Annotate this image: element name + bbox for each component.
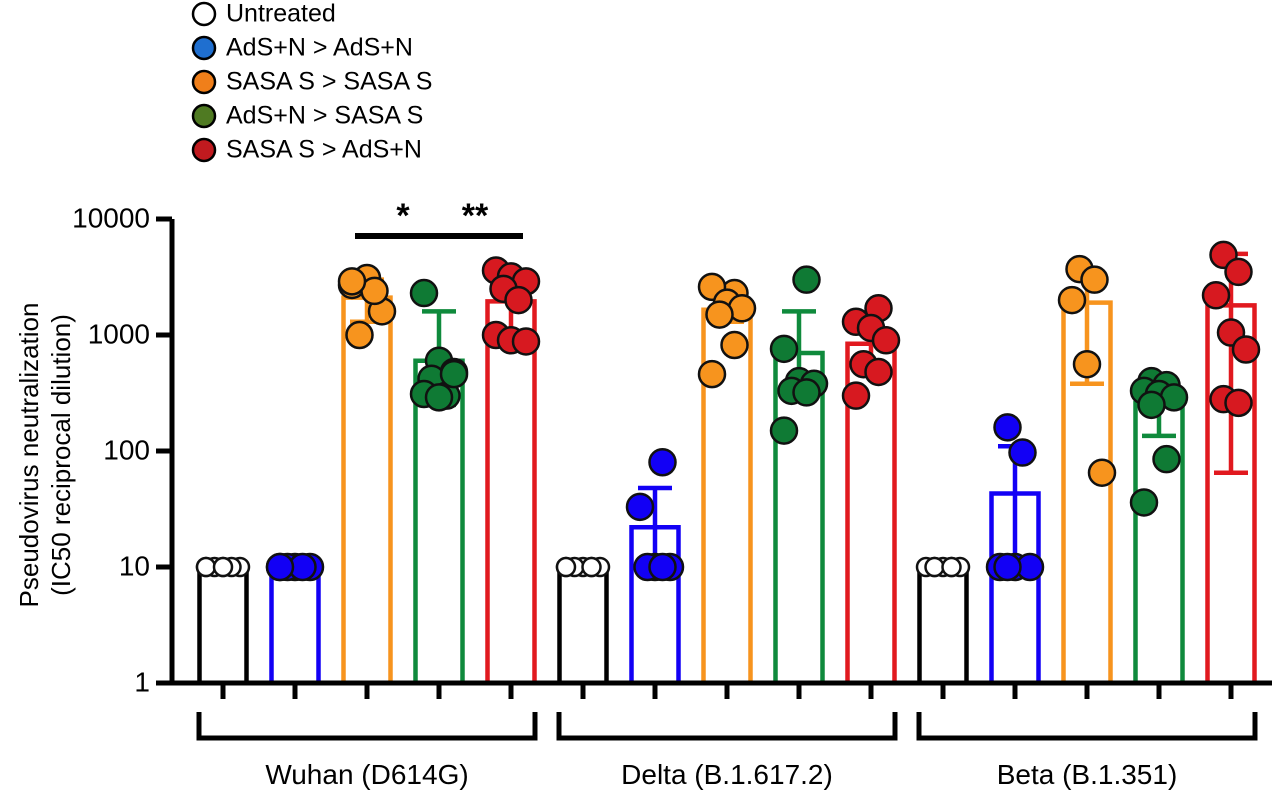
legend: UntreatedAdS+N > AdS+NSASA S > SASA SAdS…	[193, 0, 432, 164]
data-points-layer	[197, 242, 1259, 580]
y-tick-label-10000: 10000	[72, 202, 150, 233]
y-tick-label-10: 10	[119, 550, 150, 581]
y-axis-title-line-1: Pseudovirus neutralization	[14, 303, 44, 608]
data-point	[650, 554, 676, 580]
data-point	[771, 418, 797, 444]
group-label-1: Delta (B.1.617.2)	[621, 759, 833, 790]
data-point	[1226, 259, 1252, 285]
data-point	[873, 327, 899, 353]
data-point	[1010, 440, 1036, 466]
data-point	[1089, 460, 1115, 486]
significance-annotations: ***	[355, 197, 523, 236]
x-axis-group-labels: Wuhan (D614G)Delta (B.1.617.2)Beta (B.1.…	[199, 712, 1255, 790]
bar-outline	[488, 301, 535, 683]
y-tick-label-1: 1	[134, 666, 150, 697]
data-point	[995, 414, 1021, 440]
legend-swatch-4	[193, 139, 215, 161]
data-point	[1154, 446, 1180, 472]
significance-label-0: *	[396, 197, 410, 235]
bar-outline	[272, 567, 319, 683]
y-tick-label-1000: 1000	[88, 318, 150, 349]
legend-label-0: Untreated	[226, 0, 336, 28]
data-point	[1233, 336, 1259, 362]
legend-label-2: SASA S > SASA S	[226, 68, 432, 96]
legend-swatch-2	[193, 71, 215, 93]
data-point	[943, 558, 961, 576]
data-point	[794, 267, 820, 293]
legend-item-3: AdS+N > SASA S	[193, 102, 423, 130]
bar-1-0	[560, 567, 607, 683]
group-label-0: Wuhan (D614G)	[265, 759, 468, 790]
plot-area	[197, 242, 1259, 683]
y-axis-title: Pseudovirus neutralization(IC50 reciproc…	[14, 303, 76, 608]
bar-0-2	[344, 298, 391, 683]
bar-outline	[200, 567, 247, 683]
data-point	[197, 558, 215, 576]
data-point	[339, 268, 365, 294]
data-point	[1059, 287, 1085, 313]
bar-0-0	[200, 567, 247, 683]
data-point	[1226, 390, 1252, 416]
data-point	[1139, 392, 1165, 418]
data-point	[267, 554, 293, 580]
legend-swatch-3	[193, 105, 215, 127]
group-bracket-1	[559, 712, 895, 738]
legend-swatch-0	[193, 3, 215, 25]
data-point	[722, 332, 748, 358]
data-point	[794, 379, 820, 405]
legend-label-3: AdS+N > SASA S	[226, 102, 423, 130]
data-point	[866, 359, 892, 385]
group-bracket-0	[199, 712, 535, 738]
data-point	[1203, 282, 1229, 308]
bar-0-1	[272, 567, 319, 683]
data-point	[1082, 267, 1108, 293]
bar-outline	[920, 567, 967, 683]
bar-2-3	[1136, 403, 1183, 683]
y-tick-label-100: 100	[103, 434, 150, 465]
data-point	[1131, 489, 1157, 515]
data-point	[583, 558, 601, 576]
chart-figure: UntreatedAdS+N > AdS+NSASA S > SASA SAdS…	[0, 0, 1280, 807]
data-point	[699, 361, 725, 387]
data-point	[347, 322, 373, 348]
data-point	[557, 558, 575, 576]
data-point	[411, 280, 437, 306]
pseudovirus-neutralization-bar-chart: UntreatedAdS+N > AdS+NSASA S > SASA SAdS…	[0, 0, 1280, 807]
error-bars-layer	[350, 254, 1248, 567]
legend-item-4: SASA S > AdS+N	[193, 136, 422, 164]
data-point	[995, 554, 1021, 580]
data-point	[843, 383, 869, 409]
legend-label-4: SASA S > AdS+N	[226, 136, 422, 164]
data-point	[1074, 351, 1100, 377]
data-point	[926, 558, 944, 576]
y-axis-title-line-2: (IC50 reciprocal dilution)	[46, 314, 76, 596]
bar-outline	[1136, 403, 1183, 683]
legend-item-1: AdS+N > AdS+N	[193, 34, 413, 62]
group-bracket-2	[919, 712, 1255, 738]
data-point	[627, 494, 653, 520]
bar-outline	[344, 298, 391, 683]
legend-item-0: Untreated	[193, 0, 336, 28]
data-point	[650, 449, 676, 475]
data-point	[441, 361, 467, 387]
data-point	[707, 302, 733, 328]
legend-label-1: AdS+N > AdS+N	[226, 34, 413, 62]
data-point	[506, 287, 532, 313]
data-point	[771, 336, 797, 362]
data-point	[426, 384, 452, 410]
legend-swatch-1	[193, 37, 215, 59]
significance-label-1: **	[462, 197, 489, 235]
legend-item-2: SASA S > SASA S	[193, 68, 432, 96]
data-point	[513, 328, 539, 354]
bar-0-4	[488, 301, 535, 683]
bar-2-0	[920, 567, 967, 683]
bar-outline	[560, 567, 607, 683]
group-label-2: Beta (B.1.351)	[997, 759, 1178, 790]
data-point	[214, 558, 232, 576]
